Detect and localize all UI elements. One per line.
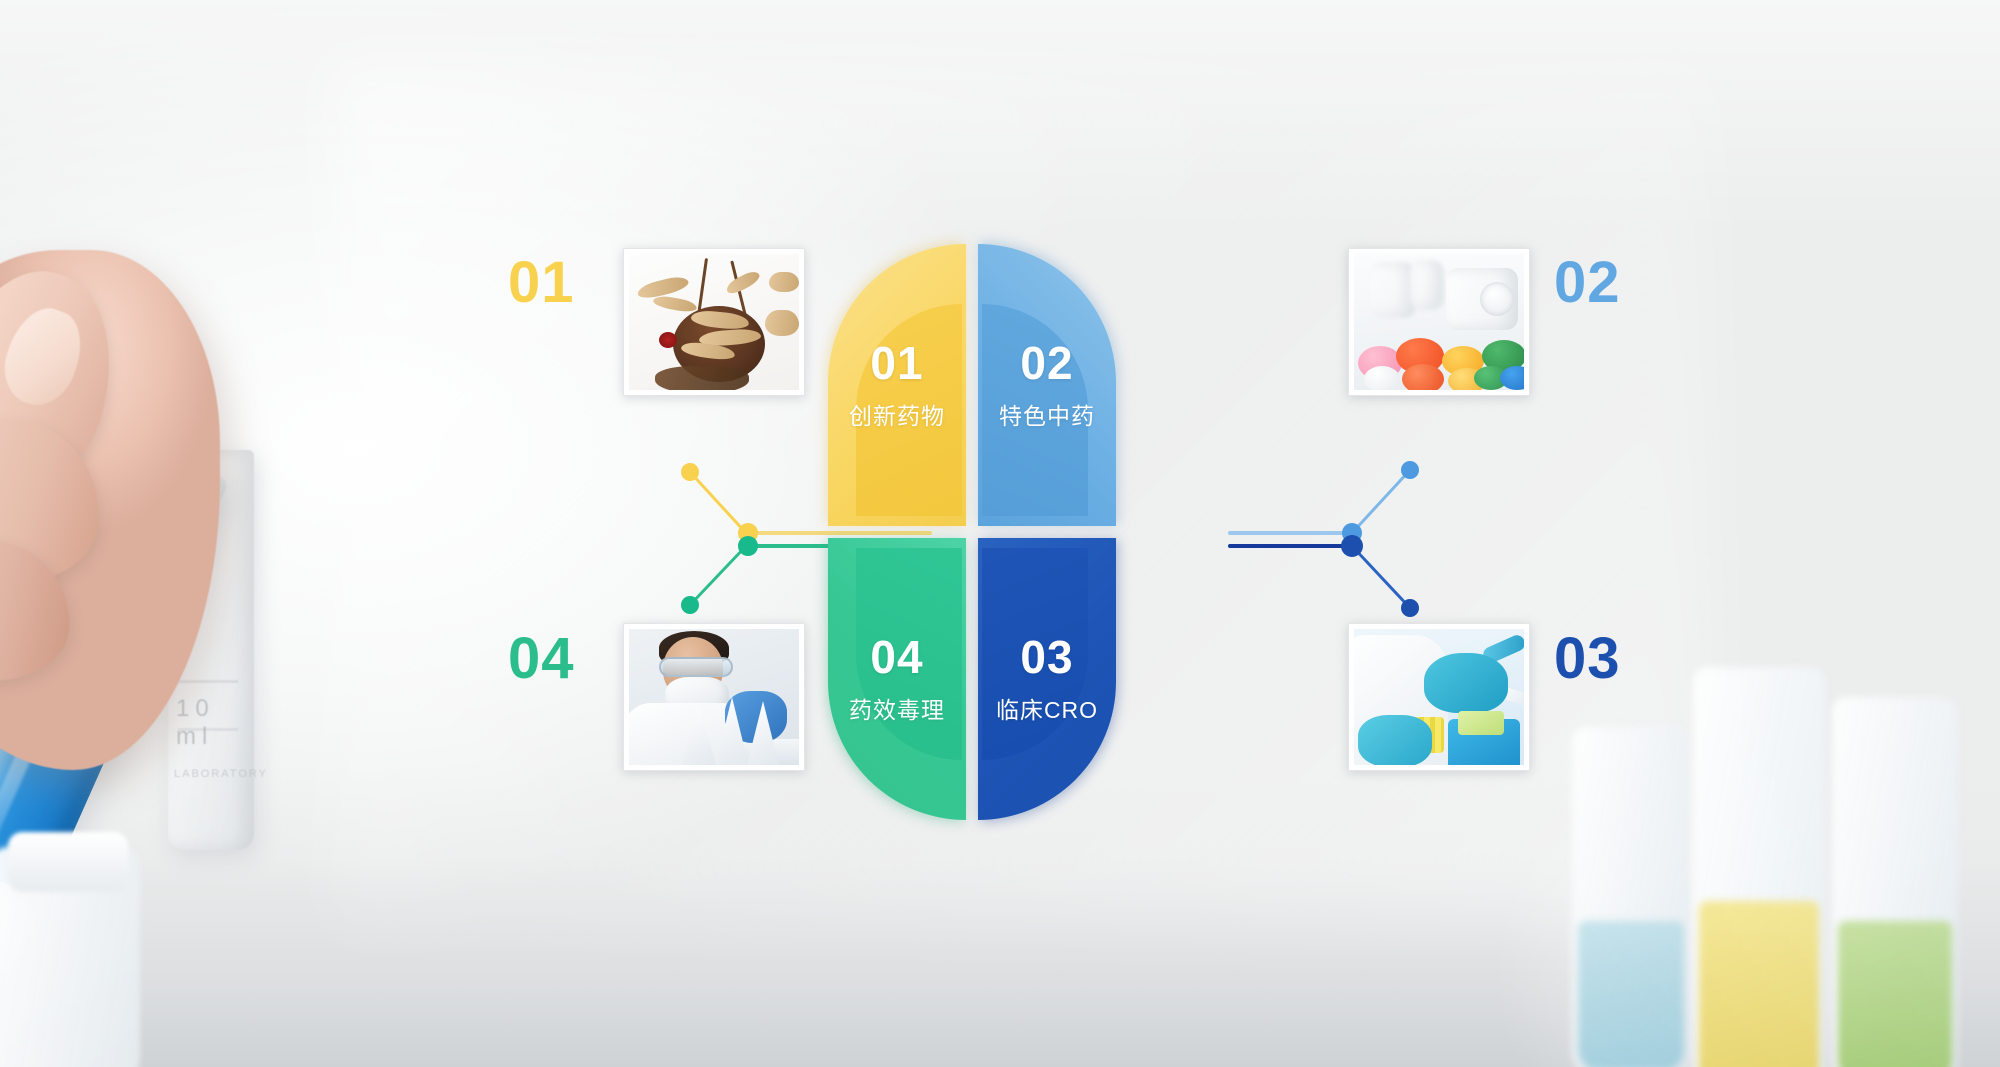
pill-white [1364,366,1400,390]
hand-with-test-tube: 10 ml LABORATORY [0,210,500,830]
quadrant-03-label: 临床CRO [996,691,1098,725]
outer-number-03: 03 [1554,630,1621,688]
clinical-glove-right [1424,653,1508,713]
clinical-glove-left [1358,715,1432,765]
quadrant-02-number: 02 [1020,340,1073,386]
quadrant-diagram: 01 创新药物 02 特色中药 03 临床CRO 04 药效毒理 [828,244,1116,820]
tube-3-liquid [1838,921,1952,1067]
vial-label-secondary: LABORATORY [174,768,268,780]
quadrant-03-clinical-cro[interactable]: 03 临床CRO [978,538,1116,820]
pill-bottle-front [1446,268,1518,330]
thumbnail-herbs[interactable] [623,248,805,396]
clinical-photo [1354,629,1524,765]
quadrant-04-number: 04 [870,634,923,680]
tube-2-liquid [1699,901,1819,1067]
quadrant-04-pharmacology-toxicology[interactable]: 04 药效毒理 [828,538,966,820]
herb-root-3 [724,268,762,296]
quadrant-02-label: 特色中药 [999,397,1095,431]
quadrant-01-label: 创新药物 [849,397,945,431]
tube-1-liquid [1578,921,1684,1067]
blurred-flask-cap [8,832,128,892]
herb-bark [655,366,749,390]
thumbnail-clinical[interactable] [1348,623,1530,771]
blurred-tube-1 [1572,727,1690,1067]
quadrant-04-label: 药效毒理 [849,691,945,725]
thumbnail-pills[interactable] [1348,248,1530,396]
green-tip-tray [1458,711,1504,735]
herb-berry [659,332,677,348]
blurred-tube-3 [1832,697,1958,1067]
pill-red-2 [1402,364,1444,390]
herb-chunk-1 [765,310,799,336]
left-bottom-glassware [0,807,240,1067]
pill-blue [1500,366,1524,390]
scientist-photo [629,629,799,765]
quadrant-01-innovative-drugs[interactable]: 01 创新药物 [828,244,966,526]
thumbnail-scientist[interactable] [623,623,805,771]
infographic-stage: 10 ml LABORATORY [0,0,2000,1067]
pill-bottle-back-2 [1410,260,1444,310]
vial-label-primary: 10 ml [176,695,254,751]
safety-goggles [659,657,733,677]
quadrant-02-tcm[interactable]: 02 特色中药 [978,244,1116,526]
herbs-photo [629,254,799,390]
outer-number-04: 04 [508,630,575,688]
blurred-tube-2 [1693,667,1825,1067]
pills-photo [1354,254,1524,390]
outer-number-01: 01 [508,254,575,312]
herb-chunk-2 [769,272,799,292]
herb-root-2 [652,294,697,313]
outer-number-02: 02 [1554,254,1621,312]
quadrant-01-number: 01 [870,340,923,386]
quadrant-03-number: 03 [1020,634,1073,680]
